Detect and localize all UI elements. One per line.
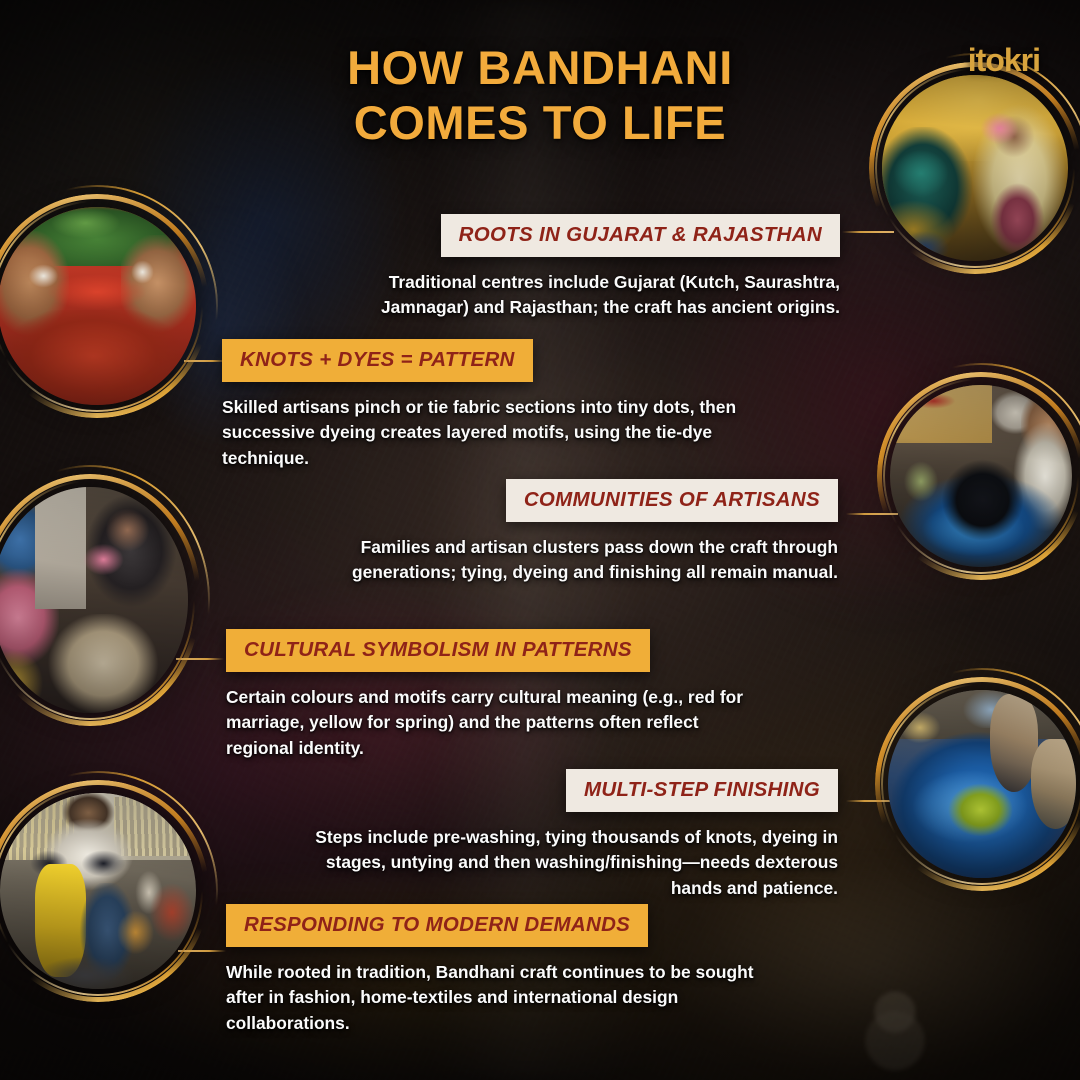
photo-cloth-bundles-blue-dye — [888, 690, 1076, 878]
section-body-modern-demands: While rooted in tradition, Bandhani craf… — [226, 960, 786, 1036]
section-body-symbolism: Certain colours and motifs carry cultura… — [226, 685, 766, 761]
photo-woman-tying-cream-fabric — [0, 487, 188, 713]
section-heading-knots-dyes[interactable]: KNOTS + DYES = PATTERN — [222, 339, 533, 382]
photo-image-hands-tying-red-fabric — [0, 207, 196, 405]
photo-image-woman-tying-cream-fabric — [0, 487, 188, 713]
background-watermark-emblem — [820, 960, 970, 1080]
section-symbolism: CULTURAL SYMBOLISM IN PATTERNS Certain c… — [226, 629, 766, 761]
section-finishing: MULTI-STEP FINISHING Steps include pre-w… — [300, 769, 838, 901]
section-heading-roots[interactable]: ROOTS IN GUJARAT & RAJASTHAN — [441, 214, 840, 257]
photo-dyer-dipping-blue-vat — [890, 385, 1072, 567]
section-body-communities: Families and artisan clusters pass down … — [300, 535, 838, 586]
page-title-line-2: COMES TO LIFE — [0, 95, 1080, 150]
section-communities: COMMUNITIES OF ARTISANS Families and art… — [300, 479, 838, 586]
photo-image-cloth-bundles-blue-dye — [888, 690, 1076, 878]
photo-image-artisan-lifting-yellow-cloth — [0, 793, 196, 989]
page-title: HOW BANDHANI COMES TO LIFE — [0, 40, 1080, 151]
photo-artisan-lifting-yellow-cloth — [0, 793, 196, 989]
section-heading-finishing[interactable]: MULTI-STEP FINISHING — [566, 769, 838, 812]
page-title-line-1: HOW BANDHANI — [347, 41, 733, 94]
infographic-poster: HOW BANDHANI COMES TO LIFE itokri — [0, 0, 1080, 1080]
section-roots: ROOTS IN GUJARAT & RAJASTHAN Traditional… — [300, 214, 840, 321]
section-body-knots-dyes: Skilled artisans pinch or tie fabric sec… — [222, 395, 752, 471]
section-heading-communities[interactable]: COMMUNITIES OF ARTISANS — [506, 479, 838, 522]
section-heading-symbolism[interactable]: CULTURAL SYMBOLISM IN PATTERNS — [226, 629, 650, 672]
itokri-logo[interactable]: itokri — [968, 42, 1040, 79]
section-body-finishing: Steps include pre-washing, tying thousan… — [300, 825, 838, 901]
section-body-roots: Traditional centres include Gujarat (Kut… — [300, 270, 840, 321]
section-knots-dyes: KNOTS + DYES = PATTERN Skilled artisans … — [222, 339, 752, 471]
photo-image-dyer-dipping-blue-vat — [890, 385, 1072, 567]
section-heading-modern-demands[interactable]: RESPONDING TO MODERN DEMANDS — [226, 904, 648, 947]
section-modern-demands: RESPONDING TO MODERN DEMANDS While roote… — [226, 904, 786, 1036]
photo-hands-tying-red-fabric — [0, 207, 196, 405]
